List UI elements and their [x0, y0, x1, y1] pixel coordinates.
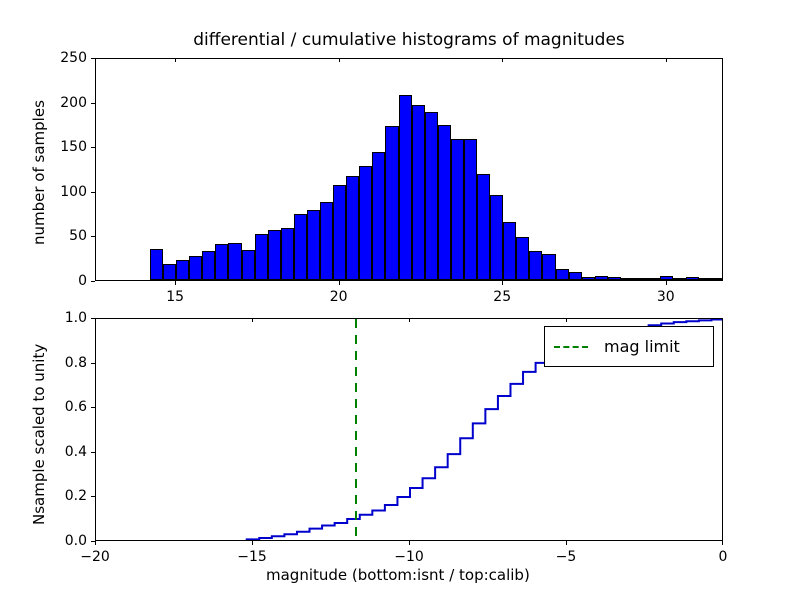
histogram-bar [582, 277, 595, 280]
histogram-bar [189, 256, 202, 280]
y-tickmark [91, 363, 95, 364]
histogram-bar [673, 278, 686, 280]
histogram-bar [215, 244, 228, 280]
x-tickmark [252, 541, 253, 545]
histogram-bars-layer [96, 59, 722, 280]
histogram-bar [451, 139, 464, 280]
x-tickmark [666, 281, 667, 285]
x-tick-label: 15 [166, 290, 184, 304]
x-tick-label: 30 [657, 290, 675, 304]
histogram-bar [242, 250, 255, 280]
y-tick-label: 1.0 [29, 311, 87, 325]
x-tickmark [95, 541, 96, 545]
x-tick-label: 20 [330, 290, 348, 304]
histogram-bar [686, 277, 699, 280]
y-tickmark [91, 281, 95, 282]
histogram-bar [595, 276, 608, 280]
x-tickmark [175, 281, 176, 285]
bottom-y-axis-label: Nsample scaled to unity [32, 344, 47, 525]
x-tickmark [502, 281, 503, 285]
histogram-bar [490, 195, 503, 280]
y-tickmark [91, 58, 95, 59]
legend[interactable]: mag limit [544, 326, 714, 367]
histogram-bar [307, 210, 320, 280]
x-tickmark-top [175, 58, 176, 62]
histogram-bar [202, 251, 215, 280]
histogram-bar [660, 276, 673, 280]
x-tickmark-top [252, 318, 253, 322]
legend-entry-mag-limit-label: mag limit [604, 337, 680, 356]
histogram-bar [438, 125, 451, 280]
x-tick-label: −15 [237, 550, 267, 564]
histogram-bar [385, 126, 398, 280]
x-tick-label: −20 [80, 550, 110, 564]
x-tick-label: −10 [394, 550, 424, 564]
y-tickmark [91, 452, 95, 453]
histogram-bar [399, 95, 412, 280]
x-tickmark-top [502, 58, 503, 62]
histogram-bar [529, 251, 542, 280]
histogram-bar [464, 139, 477, 280]
histogram-bar [516, 237, 529, 280]
histogram-bar [503, 222, 516, 280]
x-tickmark [339, 281, 340, 285]
x-tick-label: 25 [493, 290, 511, 304]
histogram-bar [556, 269, 569, 280]
differential-histogram-axes [95, 58, 723, 281]
x-tick-label: 0 [719, 550, 728, 564]
y-tickmark [91, 147, 95, 148]
histogram-bar [228, 243, 241, 280]
x-tick-label: −5 [556, 550, 577, 564]
x-tickmark [722, 541, 723, 545]
x-tickmark-top [95, 318, 96, 322]
y-tick-label: 0 [29, 274, 87, 288]
top-y-axis-label: number of samples [32, 100, 47, 245]
histogram-bar [294, 214, 307, 280]
figure-canvas: differential / cumulative histograms of … [0, 0, 800, 600]
histogram-bar [621, 278, 634, 280]
histogram-bar [255, 234, 268, 280]
x-tickmark-top [409, 318, 410, 322]
figure-title: differential / cumulative histograms of … [96, 32, 722, 49]
bottom-x-axis-label: magnitude (bottom:isnt / top:calib) [266, 568, 530, 583]
histogram-bar [569, 272, 582, 280]
x-tickmark [566, 541, 567, 545]
x-tickmark [409, 541, 410, 545]
x-tickmark-top [666, 58, 667, 62]
histogram-bar [425, 112, 438, 280]
x-tickmark-top [339, 58, 340, 62]
y-tickmark [91, 236, 95, 237]
histogram-bar [699, 278, 712, 280]
histogram-bar [412, 105, 425, 280]
histogram-bar [608, 277, 621, 280]
y-tickmark [91, 103, 95, 104]
histogram-bar [647, 278, 660, 280]
y-tickmark [91, 407, 95, 408]
histogram-bar [359, 166, 372, 280]
x-tickmark-top [722, 318, 723, 322]
histogram-bar [372, 152, 385, 280]
histogram-bar [477, 174, 490, 280]
histogram-bar [176, 260, 189, 280]
histogram-bar [268, 230, 281, 280]
y-tick-label: 250 [29, 51, 87, 65]
y-tickmark [91, 496, 95, 497]
histogram-bar [320, 202, 333, 280]
y-tickmark [91, 192, 95, 193]
histogram-bar [150, 249, 163, 280]
mag-limit-line-swatch-icon [554, 346, 588, 348]
y-tick-label: 0.0 [29, 534, 87, 548]
histogram-bar [634, 278, 647, 280]
histogram-bar [346, 176, 359, 280]
histogram-bar [163, 264, 176, 280]
histogram-bar [713, 278, 722, 280]
x-tickmark-top [566, 318, 567, 322]
histogram-bar [281, 228, 294, 280]
histogram-bar [333, 185, 346, 280]
histogram-bar [542, 254, 555, 280]
